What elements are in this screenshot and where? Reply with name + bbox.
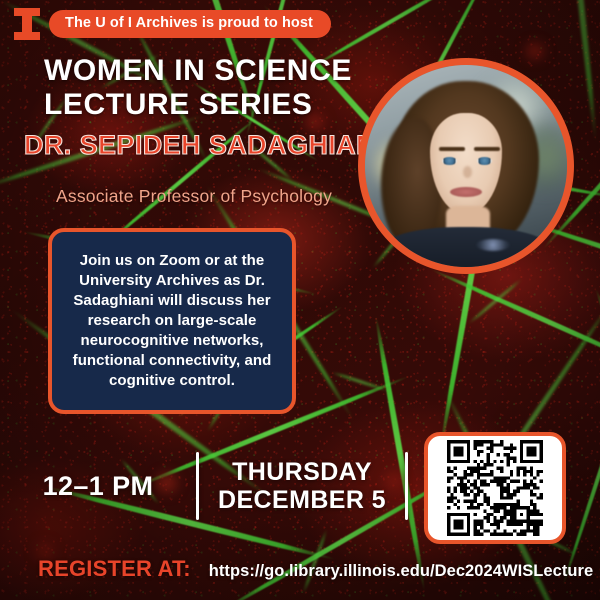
speaker-name: DR. SEPIDEH SADAGHIANI [24,130,384,161]
description-box: Join us on Zoom or at the University Arc… [48,228,296,414]
series-headline: WOMEN IN SCIENCE LECTURE SERIES [44,54,352,121]
speaker-portrait [358,58,574,274]
host-badge-row: The U of I Archives is proud to host [14,8,331,40]
headline-line-2: LECTURE SERIES [44,88,352,122]
event-day: THURSDAY [205,458,399,487]
register-row: REGISTER AT: https://go.library.illinois… [38,556,593,582]
poster-canvas: The U of I Archives is proud to host WOM… [0,0,600,600]
divider-line-right [405,452,408,520]
speaker-title: Associate Professor of Psychology [56,186,332,207]
illinois-block-i-icon [14,8,40,40]
host-badge-text: The U of I Archives is proud to host [49,10,331,38]
event-date-text: DECEMBER 5 [205,486,399,515]
event-time: 12–1 PM [0,471,196,502]
register-url[interactable]: https://go.library.illinois.edu/Dec2024W… [209,562,593,581]
qr-code-icon[interactable] [447,440,543,536]
qr-code-card[interactable] [424,432,566,544]
description-text: Join us on Zoom or at the University Arc… [64,251,280,392]
headline-line-1: WOMEN IN SCIENCE [44,54,352,88]
event-date: THURSDAY DECEMBER 5 [199,458,405,515]
event-time-date-row: 12–1 PM THURSDAY DECEMBER 5 [0,440,408,532]
register-label: REGISTER AT: [38,556,191,582]
